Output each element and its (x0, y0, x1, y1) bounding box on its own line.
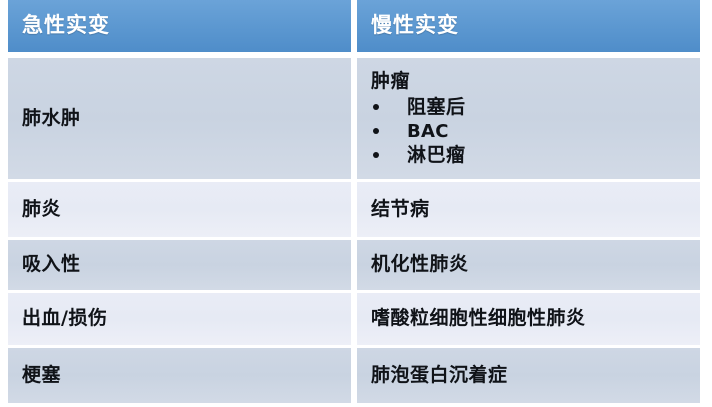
cell-chronic-1: 肿瘤 阻塞后 BAC 淋巴瘤 (357, 58, 700, 179)
table-header-row: 急性实变 慢性实变 (8, 0, 700, 52)
cell-acute-3: 吸入性 (8, 240, 351, 290)
cell-acute-5: 梗塞 (8, 348, 351, 403)
cell-text-acute-4: 出血/损伤 (22, 307, 351, 331)
cell-text-chronic-5: 肺泡蛋白沉着症 (371, 364, 700, 388)
tumor-group: 肿瘤 阻塞后 BAC 淋巴瘤 (371, 69, 700, 168)
cell-text-chronic-2: 结节病 (371, 198, 700, 222)
bullet-dot-icon (373, 152, 379, 158)
list-item: 淋巴瘤 (371, 143, 700, 168)
table-row: 肺炎 结节病 (8, 182, 700, 237)
cell-chronic-4: 嗜酸粒细胞性细胞性肺炎 (357, 293, 700, 345)
cell-text-chronic-3: 机化性肺炎 (371, 253, 700, 277)
cell-chronic-3: 机化性肺炎 (357, 240, 700, 290)
table-row: 出血/损伤 嗜酸粒细胞性细胞性肺炎 (8, 293, 700, 345)
bullet-dot-icon (373, 128, 379, 134)
list-item: 阻塞后 (371, 95, 700, 120)
cell-text-chronic-1-title: 肿瘤 (371, 71, 700, 93)
cell-text-acute-3: 吸入性 (22, 253, 351, 277)
cell-text-acute-2: 肺炎 (22, 198, 351, 222)
header-label-chronic: 慢性实变 (371, 14, 700, 37)
bullet-label-1: 阻塞后 (407, 95, 466, 120)
cell-text-acute-1: 肺水肿 (22, 107, 351, 131)
chronic-1-bullet-list: 阻塞后 BAC 淋巴瘤 (371, 95, 700, 168)
header-label-acute: 急性实变 (22, 14, 351, 37)
cell-acute-4: 出血/损伤 (8, 293, 351, 345)
cell-chronic-5: 肺泡蛋白沉着症 (357, 348, 700, 403)
table-bottom-margin (8, 403, 700, 407)
cell-acute-2: 肺炎 (8, 182, 351, 237)
comparison-table: 急性实变 慢性实变 肺水肿 肿瘤 阻塞后 BAC (8, 0, 700, 398)
bullet-label-3: 淋巴瘤 (407, 143, 466, 168)
cell-chronic-2: 结节病 (357, 182, 700, 237)
list-item: BAC (371, 120, 700, 143)
header-cell-acute: 急性实变 (8, 0, 351, 52)
bullet-label-2: BAC (407, 120, 449, 143)
bullet-dot-icon (373, 104, 379, 110)
cell-text-chronic-4: 嗜酸粒细胞性细胞性肺炎 (371, 307, 700, 331)
header-cell-chronic: 慢性实变 (357, 0, 700, 52)
table-row: 梗塞 肺泡蛋白沉着症 (8, 348, 700, 403)
table-row: 肺水肿 肿瘤 阻塞后 BAC 淋巴瘤 (8, 58, 700, 179)
table-row: 吸入性 机化性肺炎 (8, 240, 700, 290)
cell-text-acute-5: 梗塞 (22, 364, 351, 388)
cell-acute-1: 肺水肿 (8, 58, 351, 179)
